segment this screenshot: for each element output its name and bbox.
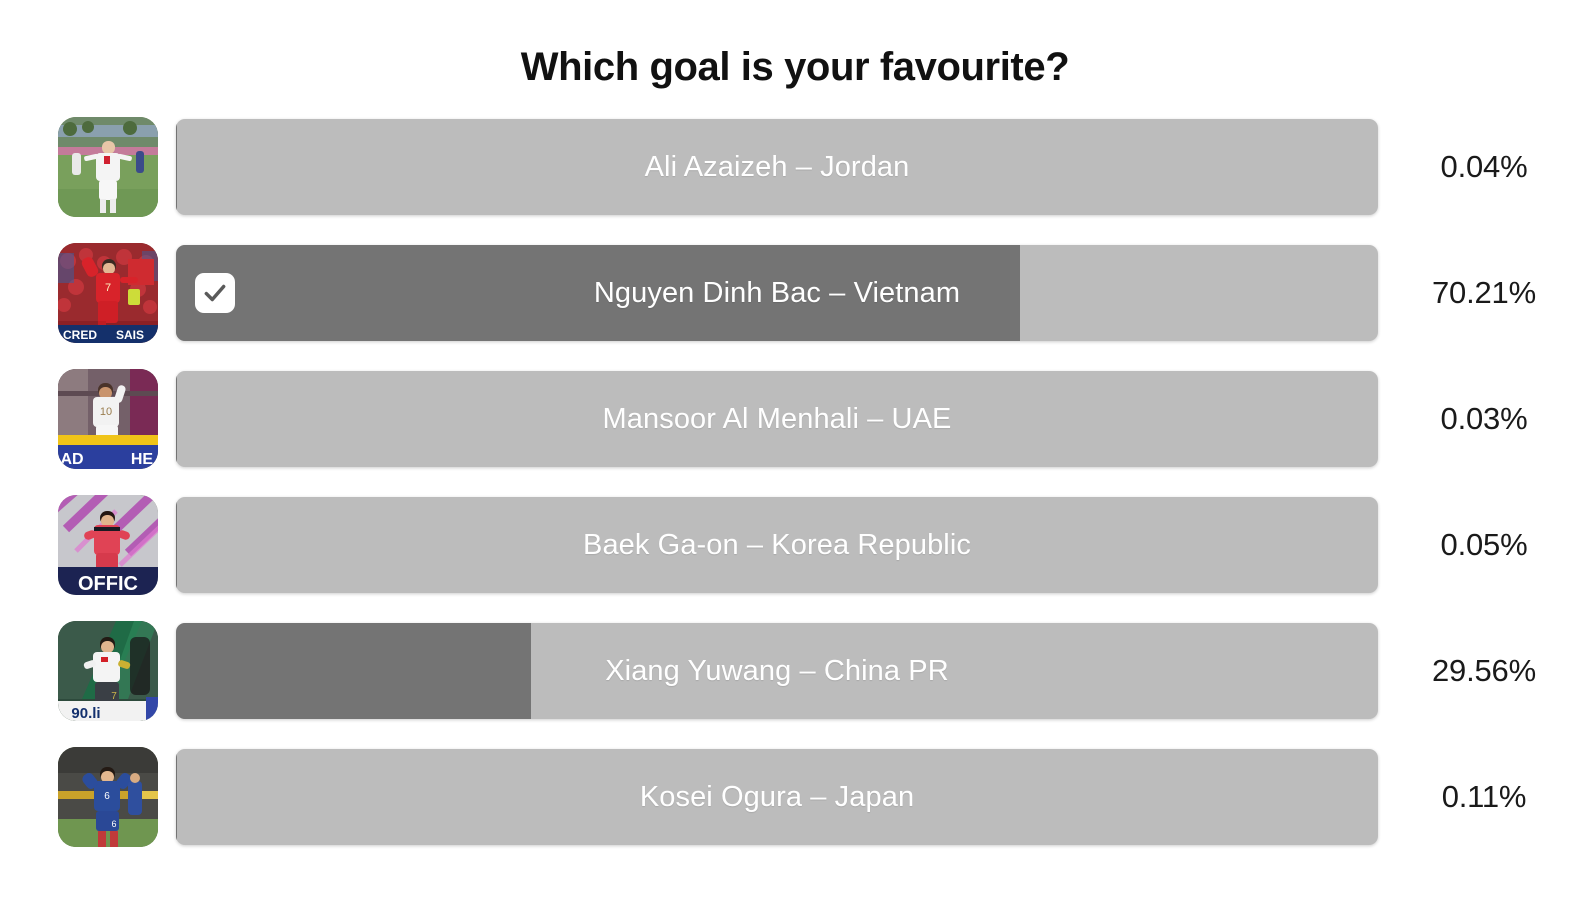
check-icon — [202, 280, 228, 306]
poll-option-row[interactable]: 10 10 AD HE Mansoor Al Menhali – UAE0.03… — [0, 356, 1590, 482]
option-percent: 29.56% — [1378, 653, 1590, 689]
poll-option-row[interactable]: OFFIC Baek Ga-on – Korea Republic0.05% — [0, 482, 1590, 608]
svg-text:90.li: 90.li — [71, 705, 100, 721]
option-percent: 70.21% — [1378, 275, 1590, 311]
svg-text:HE: HE — [131, 451, 154, 468]
svg-text:10: 10 — [100, 406, 112, 418]
page-title: Which goal is your favourite? — [0, 0, 1590, 104]
option-bar[interactable]: Kosei Ogura – Japan — [176, 749, 1378, 845]
option-label: Ali Azaizeh – Jordan — [176, 119, 1378, 215]
option-percent: 0.11% — [1378, 779, 1590, 815]
option-bar[interactable]: Nguyen Dinh Bac – Vietnam — [176, 245, 1378, 341]
option-bar-fill — [176, 623, 531, 719]
option-bar-fill — [176, 749, 177, 845]
option-bar-track: Baek Ga-on – Korea Republic — [176, 497, 1378, 593]
option-percent: 0.05% — [1378, 527, 1590, 563]
poll-options-list: Ali Azaizeh – Jordan0.04% 7 CRED SAIS Ng… — [0, 104, 1590, 860]
option-bar[interactable]: Xiang Yuwang – China PR — [176, 623, 1378, 719]
option-percent: 0.03% — [1378, 401, 1590, 437]
svg-text:7: 7 — [105, 282, 111, 294]
svg-text:6: 6 — [104, 791, 110, 802]
svg-text:CRED: CRED — [63, 328, 97, 342]
option-bar-track: Xiang Yuwang – China PR — [176, 623, 1378, 719]
poll-option-row[interactable]: 7 90.li Xiang Yuwang – China PR29.56% — [0, 608, 1590, 734]
option-bar-fill — [176, 245, 1020, 341]
option-thumbnail-image: OFFIC — [58, 495, 158, 595]
svg-text:OFFIC: OFFIC — [78, 573, 138, 595]
option-bar[interactable]: Ali Azaizeh – Jordan — [176, 119, 1378, 215]
svg-text:6: 6 — [111, 819, 116, 829]
option-checkbox[interactable] — [195, 273, 235, 313]
option-thumbnail-image: 6 6 — [58, 747, 158, 847]
poll-option-row[interactable]: Ali Azaizeh – Jordan0.04% — [0, 104, 1590, 230]
option-bar[interactable]: Baek Ga-on – Korea Republic — [176, 497, 1378, 593]
option-thumbnail-image: 7 90.li — [58, 621, 158, 721]
option-bar[interactable]: Mansoor Al Menhali – UAE — [176, 371, 1378, 467]
option-bar-track: Kosei Ogura – Japan — [176, 749, 1378, 845]
option-label: Mansoor Al Menhali – UAE — [176, 371, 1378, 467]
svg-text:AD: AD — [60, 451, 83, 468]
svg-text:SAIS: SAIS — [116, 328, 144, 342]
option-thumbnail-image — [58, 117, 158, 217]
option-bar-track: Nguyen Dinh Bac – Vietnam — [176, 245, 1378, 341]
option-percent: 0.04% — [1378, 149, 1590, 185]
poll-option-row[interactable]: 7 CRED SAIS Nguyen Dinh Bac – Vietnam70.… — [0, 230, 1590, 356]
svg-text:7: 7 — [111, 691, 117, 702]
poll-container: Which goal is your favourite? Ali Azaize… — [0, 0, 1590, 924]
option-thumbnail-image: 10 10 AD HE — [58, 369, 158, 469]
option-bar-track: Mansoor Al Menhali – UAE — [176, 371, 1378, 467]
poll-option-row[interactable]: 6 6 Kosei Ogura – Japan0.11% — [0, 734, 1590, 860]
option-thumbnail-image: 7 CRED SAIS — [58, 243, 158, 343]
option-bar-track: Ali Azaizeh – Jordan — [176, 119, 1378, 215]
option-label: Baek Ga-on – Korea Republic — [176, 497, 1378, 593]
option-label: Kosei Ogura – Japan — [176, 749, 1378, 845]
option-bar-fill — [176, 497, 177, 593]
